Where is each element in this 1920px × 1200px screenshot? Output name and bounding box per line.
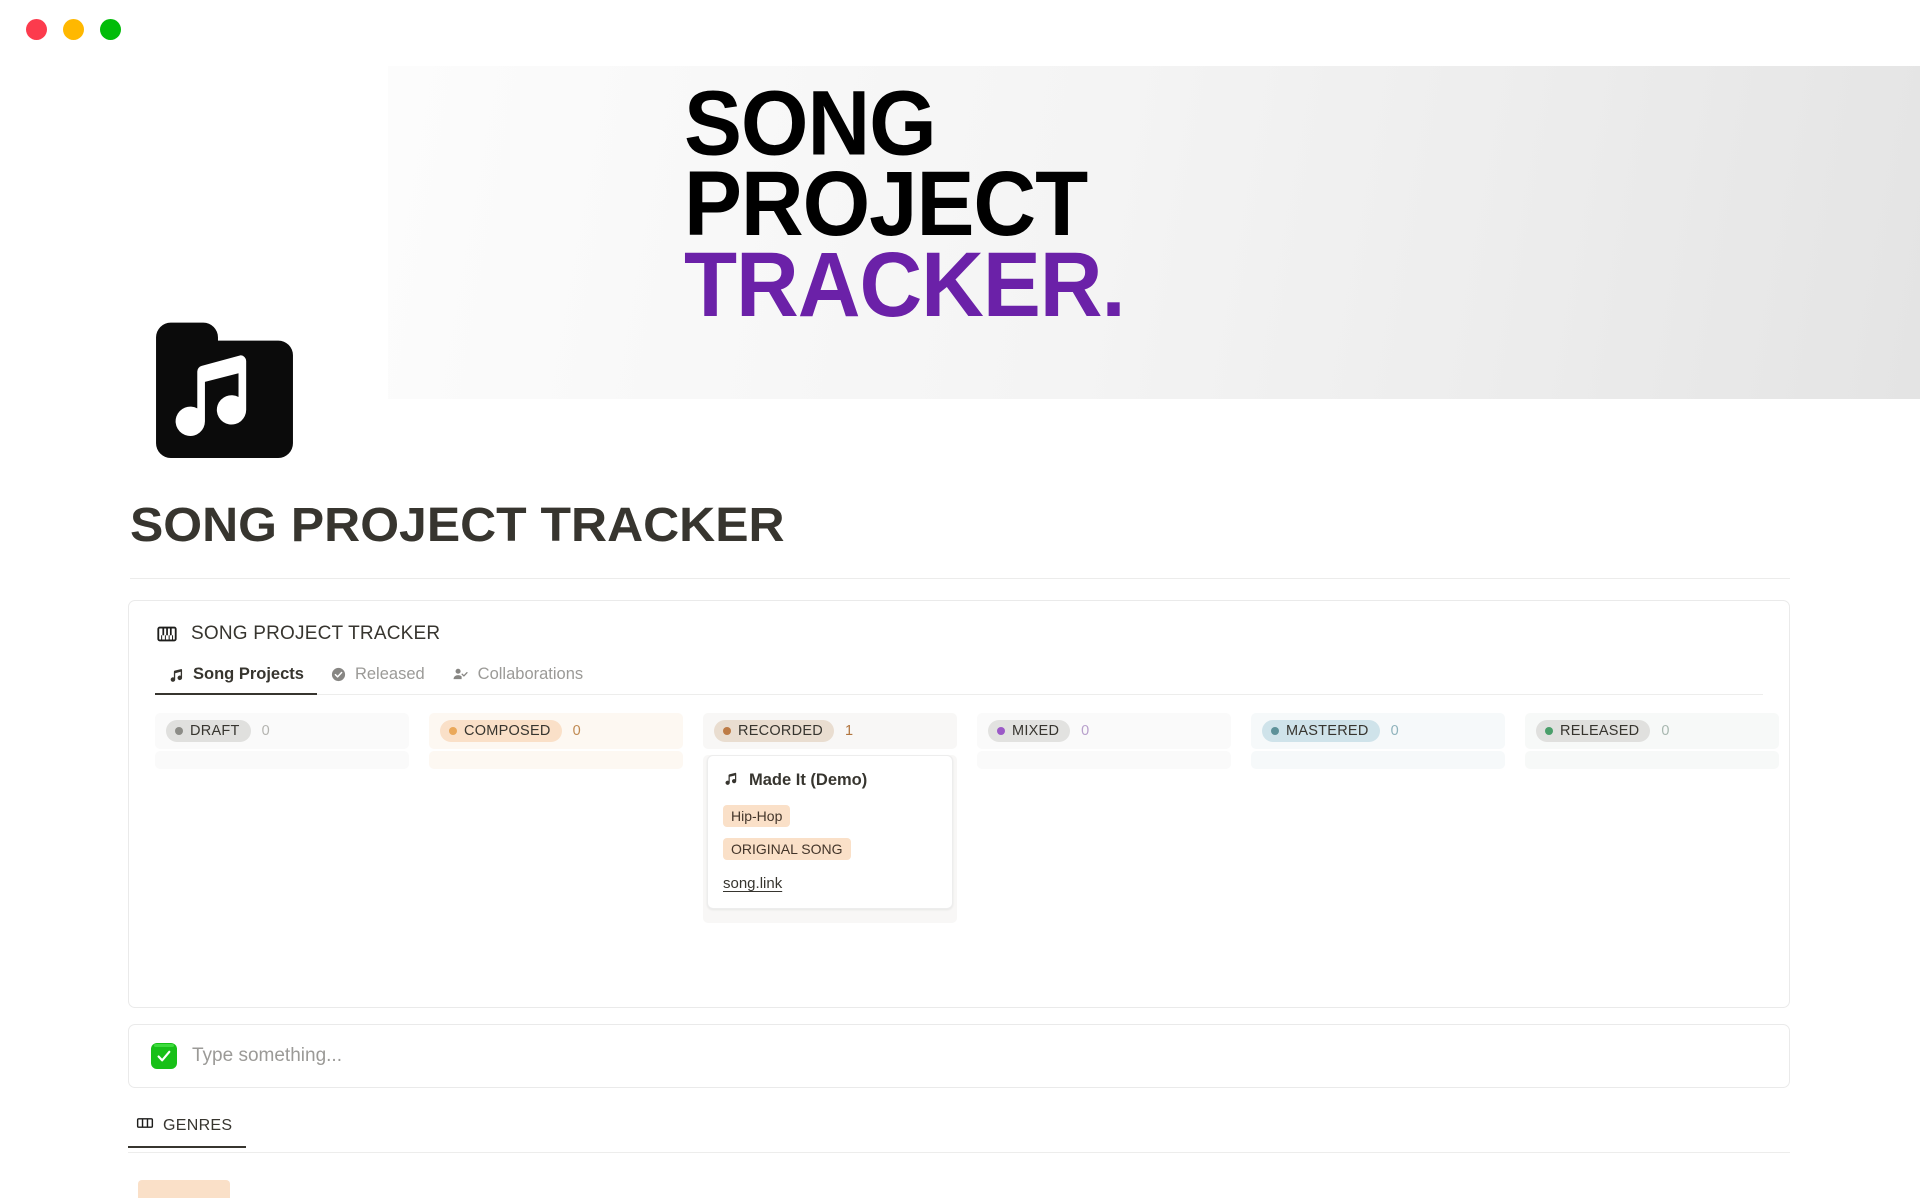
column-count: 0: [262, 723, 270, 739]
card-link[interactable]: song.link: [723, 875, 937, 892]
genre-tag-partial[interactable]: [138, 1180, 230, 1198]
column-dropzone[interactable]: [429, 751, 683, 769]
card-title-row: Made It (Demo): [723, 770, 937, 791]
tab-genres[interactable]: GENRES: [128, 1110, 246, 1148]
column-count: 0: [1661, 723, 1669, 739]
column-count: 0: [1391, 723, 1399, 739]
status-label: DRAFT: [190, 723, 240, 739]
tag-label: ORIGINAL SONG: [723, 838, 851, 860]
tab-label: Collaborations: [478, 665, 583, 684]
status-label: RECORDED: [738, 723, 823, 739]
status-dot-icon: [1271, 727, 1279, 735]
music-note-icon: [168, 666, 185, 683]
composer-placeholder[interactable]: Type something...: [192, 1045, 342, 1067]
tab-label: Released: [355, 665, 425, 684]
board-column-released: RELEASED 0: [1525, 713, 1779, 923]
tab-label: Song Projects: [193, 665, 304, 684]
column-header[interactable]: COMPOSED 0: [429, 713, 683, 749]
page-title[interactable]: SONG PROJECT TRACKER: [130, 498, 785, 553]
title-divider: [130, 578, 1790, 579]
board-column-mixed: MIXED 0: [977, 713, 1231, 923]
status-dot-icon: [723, 727, 731, 735]
status-badge: DRAFT: [166, 720, 251, 742]
status-dot-icon: [449, 727, 457, 735]
column-count: 0: [1081, 723, 1089, 739]
database-view-tabs: Song Projects Released Collaborations: [129, 659, 1789, 695]
column-header[interactable]: RECORDED 1: [703, 713, 957, 749]
status-dot-icon: [1545, 727, 1553, 735]
status-badge: RECORDED: [714, 720, 834, 742]
banner-wordmark: SONG PROJECT TRACKER.: [684, 84, 1125, 326]
status-label: MASTERED: [1286, 723, 1369, 739]
board-card[interactable]: Made It (Demo) Hip-Hop ORIGINAL SONG son…: [707, 755, 953, 909]
tag-label: Hip-Hop: [723, 805, 790, 827]
column-dropzone[interactable]: [155, 751, 409, 769]
card-tag-type: ORIGINAL SONG: [723, 838, 937, 871]
card-tag-genre: Hip-Hop: [723, 805, 937, 838]
status-label: COMPOSED: [464, 723, 551, 739]
status-badge: COMPOSED: [440, 720, 562, 742]
board-column-mastered: MASTERED 0: [1251, 713, 1505, 923]
banner-line-3: TRACKER.: [684, 246, 1125, 327]
status-dot-icon: [997, 727, 1005, 735]
composer-input-row[interactable]: Type something...: [128, 1024, 1790, 1088]
status-dot-icon: [175, 727, 183, 735]
column-header[interactable]: MASTERED 0: [1251, 713, 1505, 749]
board-columns-icon: [136, 1114, 154, 1137]
green-check-emoji: [151, 1043, 177, 1069]
status-badge: MASTERED: [1262, 720, 1380, 742]
column-count: 0: [573, 723, 581, 739]
database-title: SONG PROJECT TRACKER: [191, 623, 440, 645]
board-view: DRAFT 0 COMPOSED 0 RECORDED: [129, 695, 1789, 923]
board-column-draft: DRAFT 0: [155, 713, 409, 923]
window-titlebar: [0, 0, 1920, 58]
column-dropzone[interactable]: Made It (Demo) Hip-Hop ORIGINAL SONG son…: [703, 755, 957, 923]
check-circle-icon: [330, 666, 347, 683]
minimize-button[interactable]: [63, 19, 84, 40]
database-panel: SONG PROJECT TRACKER Song Projects Relea…: [128, 600, 1790, 1008]
status-badge: RELEASED: [1536, 720, 1650, 742]
column-header[interactable]: RELEASED 0: [1525, 713, 1779, 749]
tab-released[interactable]: Released: [317, 659, 438, 695]
tab-song-projects[interactable]: Song Projects: [155, 659, 317, 695]
music-note-icon: [723, 770, 739, 791]
card-title: Made It (Demo): [749, 771, 867, 790]
close-button[interactable]: [26, 19, 47, 40]
column-count: 1: [845, 723, 853, 739]
page-cover-banner[interactable]: SONG PROJECT TRACKER.: [388, 66, 1920, 399]
status-label: MIXED: [1012, 723, 1059, 739]
genres-divider: [128, 1152, 1790, 1153]
column-header[interactable]: DRAFT 0: [155, 713, 409, 749]
database-header: SONG PROJECT TRACKER: [129, 601, 1789, 645]
status-label: RELEASED: [1560, 723, 1639, 739]
tab-label: GENRES: [163, 1117, 232, 1135]
genres-view-tabs: GENRES: [128, 1110, 1790, 1148]
board-column-recorded: RECORDED 1 Made It (Demo) Hip-: [703, 713, 957, 923]
music-folder-icon[interactable]: [143, 308, 306, 471]
column-dropzone[interactable]: [977, 751, 1231, 769]
tab-collaborations[interactable]: Collaborations: [438, 659, 596, 695]
maximize-button[interactable]: [100, 19, 121, 40]
column-header[interactable]: MIXED 0: [977, 713, 1231, 749]
window-controls: [26, 19, 121, 40]
person-check-icon: [451, 666, 470, 683]
column-dropzone[interactable]: [1525, 751, 1779, 769]
board-column-composed: COMPOSED 0: [429, 713, 683, 923]
piano-keyboard-icon: [156, 623, 178, 645]
status-badge: MIXED: [988, 720, 1070, 742]
column-dropzone[interactable]: [1251, 751, 1505, 769]
